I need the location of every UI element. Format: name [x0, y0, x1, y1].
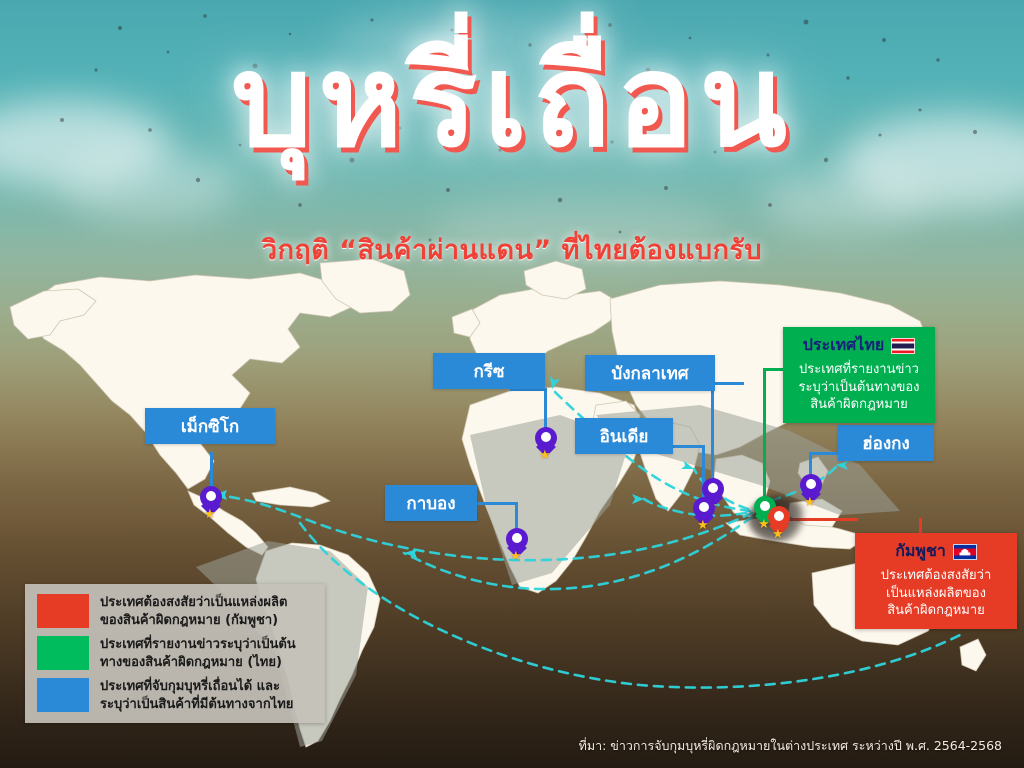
star-icon: ★: [510, 552, 522, 562]
callout-cambodia[interactable]: กัมพูชา ประเทศต้องสงสัยว่า เป็นแหล่งผลิต…: [855, 533, 1017, 629]
label-chip-bangladesh[interactable]: บังกลาเทศ: [585, 355, 715, 391]
landmass-new-zealand: [960, 639, 986, 671]
legend-swatch-blue: [37, 678, 89, 712]
label-chip-gabon-text: กาบอง: [406, 490, 455, 517]
legend-red-line-1: ประเทศต้องสงสัยว่าเป็นแหล่งผลิต: [100, 594, 287, 612]
connector-thailand-horizontal: [763, 368, 785, 371]
legend-blue-line-2: ระบุว่าเป็นสินค้าที่มีต้นทางจากไทย: [100, 696, 293, 714]
poster-title-wrap: บุหรี่เถื่อน: [0, 28, 1024, 175]
star-icon: ★: [204, 510, 216, 520]
star-icon: ★: [804, 498, 816, 508]
map-pin-india[interactable]: ★: [693, 497, 715, 527]
map-pin-mexico[interactable]: ★: [200, 486, 222, 516]
callout-cambodia-line-1: ประเทศต้องสงสัยว่า: [865, 567, 1007, 585]
source-note: ที่มา: ข่าวการจับกุมบุหรี่ผิดกฎหมายในต่า…: [579, 736, 1002, 756]
label-chip-greece-text: กรีซ: [474, 358, 505, 385]
map-pin-gabon[interactable]: ★: [506, 528, 528, 558]
callout-thailand[interactable]: ประเทศไทย ประเทศที่รายงานข่าว ระบุว่าเป็…: [783, 327, 935, 423]
flag-thailand-icon: [891, 338, 915, 354]
connector-thailand-vertical: [763, 368, 766, 502]
label-chip-mexico-text: เม็กซิโก: [181, 413, 239, 440]
label-chip-gabon[interactable]: กาบอง: [385, 485, 477, 521]
connector-india-horizontal: [671, 445, 705, 448]
page-subtitle: วิกฤติ “สินค้าผ่านแดน” ที่ไทยต้องแบกรับ: [0, 228, 1024, 271]
callout-thailand-body: ประเทศที่รายงานข่าว ระบุว่าเป็นต้นทางของ…: [793, 361, 925, 414]
map-pin-hongkong[interactable]: ★: [800, 474, 822, 504]
star-icon: ★: [539, 451, 551, 461]
callout-cambodia-country: กัมพูชา: [895, 539, 946, 564]
legend: ประเทศต้องสงสัยว่าเป็นแหล่งผลิต ของสินค้…: [25, 584, 325, 723]
connector-bangladesh-horizontal: [713, 382, 744, 385]
legend-text-blue: ประเทศที่จับกุมบุหรี่เถื่อนได้ และ ระบุว…: [100, 678, 293, 713]
callout-cambodia-line-2: เป็นแหล่งผลิตของ: [865, 585, 1007, 603]
label-chip-bangladesh-text: บังกลาเทศ: [611, 360, 688, 387]
legend-text-red: ประเทศต้องสงสัยว่าเป็นแหล่งผลิต ของสินค้…: [100, 594, 287, 629]
map-pin-cambodia[interactable]: ★: [768, 506, 790, 536]
label-chip-greece[interactable]: กรีซ: [433, 353, 545, 389]
label-chip-hongkong[interactable]: ฮ่องกง: [838, 425, 934, 461]
legend-red-line-2: ของสินค้าผิดกฎหมาย (กัมพูชา): [100, 612, 287, 630]
label-chip-india[interactable]: อินเดีย: [575, 418, 673, 454]
flag-cambodia-icon: [953, 544, 977, 560]
star-icon: ★: [772, 530, 784, 540]
callout-cambodia-body: ประเทศต้องสงสัยว่า เป็นแหล่งผลิตของ สินค…: [865, 567, 1007, 620]
connector-hongkong-horizontal: [809, 452, 841, 455]
callout-thailand-line-1: ประเทศที่รายงานข่าว: [793, 361, 925, 379]
label-chip-mexico[interactable]: เม็กซิโก: [145, 408, 275, 444]
connector-gabon-horizontal: [475, 502, 518, 505]
label-chip-hongkong-text: ฮ่องกง: [862, 430, 909, 457]
callout-thailand-country: ประเทศไทย: [803, 333, 884, 358]
legend-item-green: ประเทศที่รายงานข่าวระบุว่าเป็นต้น ทางของ…: [37, 636, 313, 671]
star-icon: ★: [697, 521, 709, 531]
callout-cambodia-line-3: สินค้าผิดกฎหมาย: [865, 602, 1007, 620]
page-title: บุหรี่เถื่อน: [0, 28, 1024, 175]
legend-swatch-red: [37, 594, 89, 628]
legend-green-line-2: ทางของสินค้าผิดกฎหมาย (ไทย): [100, 654, 296, 672]
callout-cambodia-header: กัมพูชา: [865, 539, 1007, 564]
legend-item-blue: ประเทศที่จับกุมบุหรี่เถื่อนได้ และ ระบุว…: [37, 678, 313, 713]
label-chip-india-text: อินเดีย: [600, 423, 649, 450]
infographic-poster: บุหรี่เถื่อน วิกฤติ “สินค้าผ่านแดน” ที่ไ…: [0, 0, 1024, 768]
callout-thailand-header: ประเทศไทย: [793, 333, 925, 358]
legend-item-red: ประเทศต้องสงสัยว่าเป็นแหล่งผลิต ของสินค้…: [37, 594, 313, 629]
legend-green-line-1: ประเทศที่รายงานข่าวระบุว่าเป็นต้น: [100, 636, 296, 654]
legend-blue-line-1: ประเทศที่จับกุมบุหรี่เถื่อนได้ และ: [100, 678, 293, 696]
legend-text-green: ประเทศที่รายงานข่าวระบุว่าเป็นต้น ทางของ…: [100, 636, 296, 671]
connector-bangladesh-vertical: [711, 382, 714, 484]
legend-swatch-green: [37, 636, 89, 670]
map-pin-greece[interactable]: ★: [535, 427, 557, 457]
cloud-decoration: [760, 170, 930, 232]
callout-thailand-line-2: ระบุว่าเป็นต้นทางของ: [793, 379, 925, 397]
callout-thailand-line-3: สินค้าผิดกฎหมาย: [793, 396, 925, 414]
